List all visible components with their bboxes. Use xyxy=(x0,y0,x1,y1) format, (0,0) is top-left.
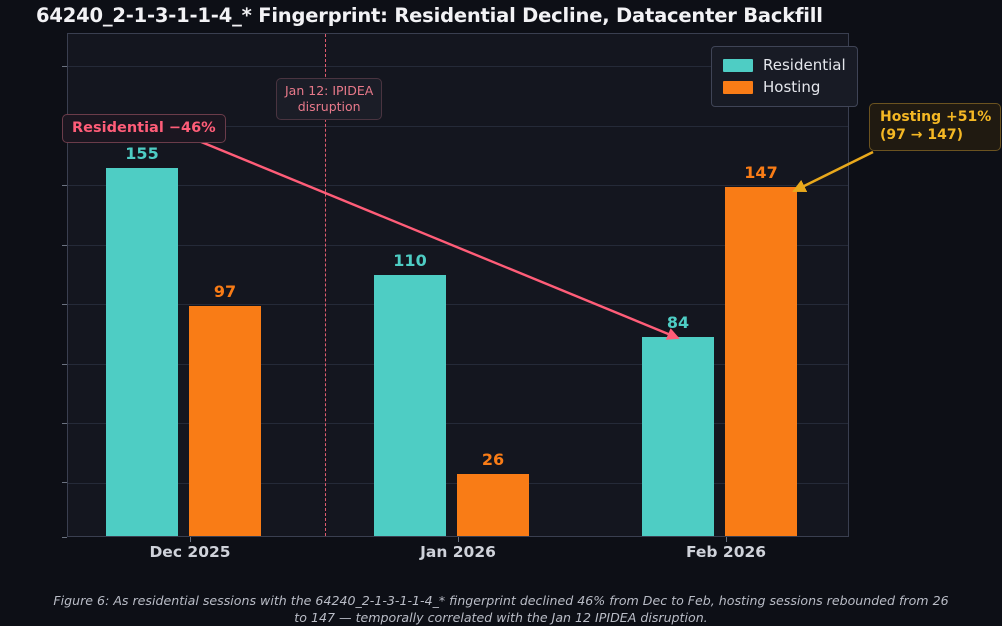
chart-legend[interactable]: Residential Hosting xyxy=(711,46,858,107)
x-tick-label-dec-2025: Dec 2025 xyxy=(149,543,230,561)
legend-swatch-residential-icon xyxy=(723,59,753,72)
legend-item-residential[interactable]: Residential xyxy=(723,54,846,76)
chart-figure: 64240_2-1-3-1-1-4_* Fingerprint: Residen… xyxy=(0,0,1002,625)
figure-caption: Figure 6: As residential sessions with t… xyxy=(51,592,951,626)
legend-label-hosting: Hosting xyxy=(763,78,820,96)
bar-value-residential-jan-2026: 110 xyxy=(393,251,426,270)
bar-value-hosting-jan-2026: 26 xyxy=(482,450,504,469)
bar-value-hosting-dec-2025: 97 xyxy=(214,282,236,301)
bar-residential-dec-2025[interactable] xyxy=(106,168,178,536)
x-tick-label-jan-2026: Jan 2026 xyxy=(420,543,496,561)
bar-value-residential-feb-2026: 84 xyxy=(667,313,689,332)
x-tick-mark xyxy=(190,537,191,542)
legend-label-residential: Residential xyxy=(763,56,846,74)
annotation-residential-decline: Residential −46% xyxy=(62,114,226,143)
x-tick-label-feb-2026: Feb 2026 xyxy=(686,543,766,561)
gridline-150 xyxy=(68,185,848,186)
page-title: 64240_2-1-3-1-1-4_* Fingerprint: Residen… xyxy=(36,4,976,27)
bar-value-hosting-feb-2026: 147 xyxy=(744,163,777,182)
legend-swatch-hosting-icon xyxy=(723,81,753,94)
x-tick-mark xyxy=(458,537,459,542)
annotation-hosting-rebound: Hosting +51% (97 → 147) xyxy=(869,103,1001,151)
annotation-event-jan12: Jan 12: IPIDEA disruption xyxy=(276,78,382,120)
bar-hosting-jan-2026[interactable] xyxy=(457,474,529,536)
bar-residential-jan-2026[interactable] xyxy=(374,275,446,536)
bar-hosting-dec-2025[interactable] xyxy=(189,306,261,536)
bar-hosting-feb-2026[interactable] xyxy=(725,187,797,536)
x-tick-mark xyxy=(726,537,727,542)
bar-value-residential-dec-2025: 155 xyxy=(125,144,158,163)
y-tick-mark xyxy=(62,537,67,538)
legend-item-hosting[interactable]: Hosting xyxy=(723,76,846,98)
bar-residential-feb-2026[interactable] xyxy=(642,337,714,536)
plot-area: 155 97 110 26 84 147 xyxy=(67,33,849,537)
